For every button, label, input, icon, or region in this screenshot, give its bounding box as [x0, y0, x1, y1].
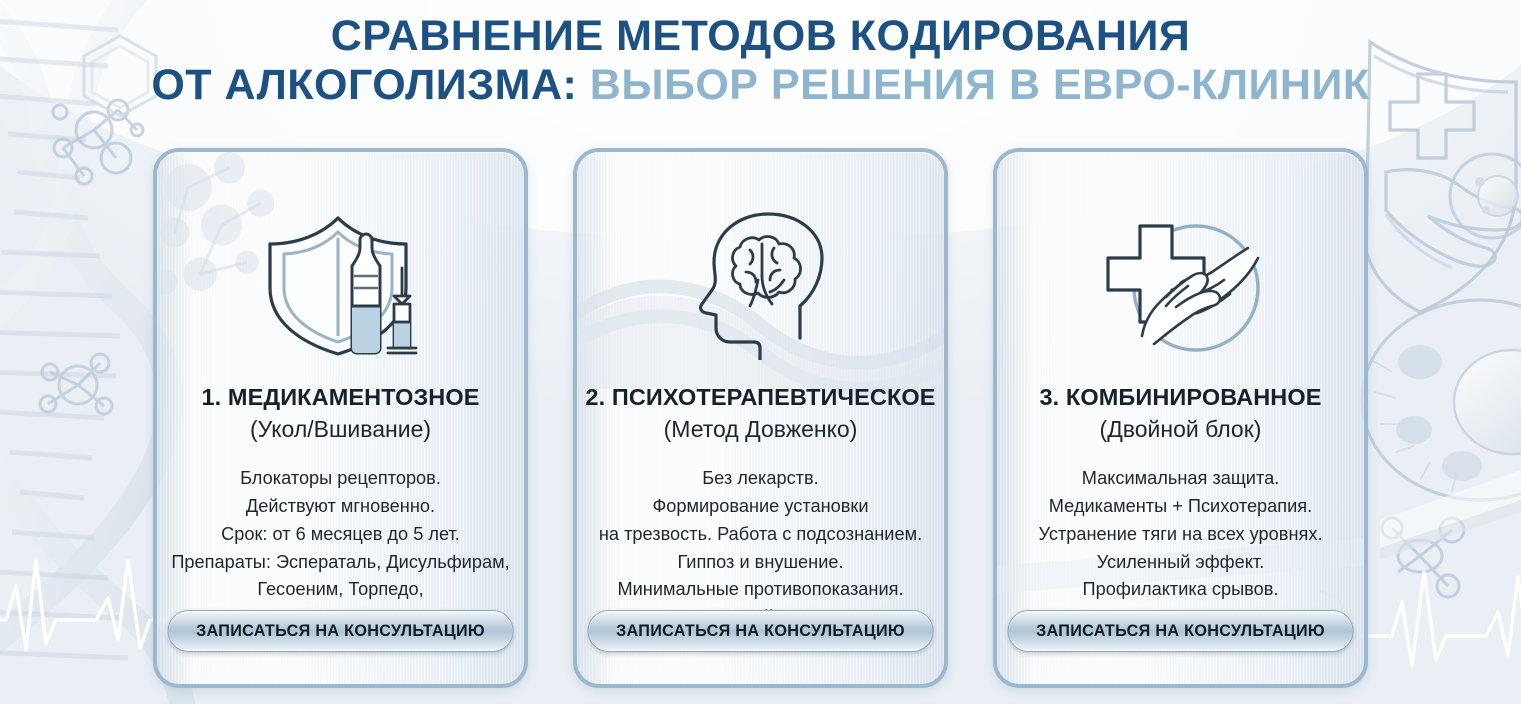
consultation-cta-button[interactable]: ЗАПИСАТЬСЯ НА КОНСУЛЬТАЦИЮ — [1007, 610, 1354, 652]
consultation-cta-button[interactable]: ЗАПИСАТЬСЯ НА КОНСУЛЬТАЦИЮ — [587, 610, 934, 652]
card-body-line: Гиппоз и внушение. — [599, 549, 922, 577]
card-body-line: Максимальная защита. — [1039, 465, 1323, 493]
card-body: Без лекарств. Формирование установки на … — [591, 465, 930, 632]
card-body-line: Препараты: Эсператаль, Дисульфирам, — [171, 549, 509, 577]
shield-ampoule-syringe-icon — [256, 210, 426, 360]
card-heading: 1. МЕДИКАМЕНТОЗНОЕ — [201, 384, 479, 411]
page-title-line-1: СРАВНЕНИЕ МЕТОДОВ КОДИРОВАНИЯ — [0, 14, 1521, 59]
card-body-line: Без лекарств. — [599, 465, 922, 493]
card-heading: 3. КОМБИНИРОВАННОЕ — [1039, 384, 1321, 411]
card-body-line: Гесоеним, Торпедо, — [171, 576, 509, 604]
cross-helping-hands-icon — [1096, 210, 1266, 360]
card-body-line: на трезвость. Работа с подсознанием. — [599, 521, 922, 549]
page-title-line-2-dark: ОТ АЛКОГОЛИЗМА: — [151, 61, 577, 109]
card-body-line: Медикаменты + Психотерапия. — [1039, 493, 1323, 521]
card-body-line: Срок: от 6 месяцев до 5 лет. — [171, 521, 509, 549]
card-body: Максимальная защита. Медикаменты + Психо… — [1031, 465, 1331, 604]
card-body-line: Формирование установки — [599, 493, 922, 521]
card-body-line: Минимальные противопоказания. — [599, 576, 922, 604]
method-cards-container: 1. МЕДИКАМЕНТОЗНОЕ (Укол/Вшивание) Блока… — [0, 148, 1521, 690]
card-heading: 2. ПСИХОТЕРАПЕВТИЧЕСКОЕ — [585, 384, 935, 411]
consultation-cta-button[interactable]: ЗАПИСАТЬСЯ НА КОНСУЛЬТАЦИЮ — [167, 610, 514, 652]
method-card-psychotherapy: 2. ПСИХОТЕРАПЕВТИЧЕСКОЕ (Метод Довженко)… — [573, 148, 948, 688]
card-subtitle: (Укол/Вшивание) — [250, 416, 431, 443]
card-subtitle: (Двойной блок) — [1100, 416, 1262, 443]
card-body-line: Действуют мгновенно. — [171, 493, 509, 521]
page-header: СРАВНЕНИЕ МЕТОДОВ КОДИРОВАНИЯ ОТ АЛКОГОЛ… — [0, 14, 1521, 107]
page-title-line-2: ОТ АЛКОГОЛИЗМА: ВЫБОР РЕШЕНИЯ В ЕВРО-КЛИ… — [0, 63, 1521, 108]
page-title-line-2-light: ВЫБОР РЕШЕНИЯ В ЕВРО-КЛИНИК — [590, 61, 1370, 109]
card-body-line: Усиленный эффект. — [1039, 549, 1323, 577]
card-body-line: Устранение тяги на всех уровнях. — [1039, 521, 1323, 549]
card-body: Блокаторы рецепторов. Действуют мгновенн… — [163, 465, 517, 632]
card-body-line: Блокаторы рецепторов. — [171, 465, 509, 493]
card-body-line: Профилактика срывов. — [1039, 576, 1323, 604]
method-card-medication: 1. МЕДИКАМЕНТОЗНОЕ (Укол/Вшивание) Блока… — [153, 148, 528, 688]
method-card-combined: 3. КОМБИНИРОВАННОЕ (Двойной блок) Максим… — [993, 148, 1368, 688]
card-subtitle: (Метод Довженко) — [664, 416, 858, 443]
head-brain-icon — [676, 210, 846, 360]
